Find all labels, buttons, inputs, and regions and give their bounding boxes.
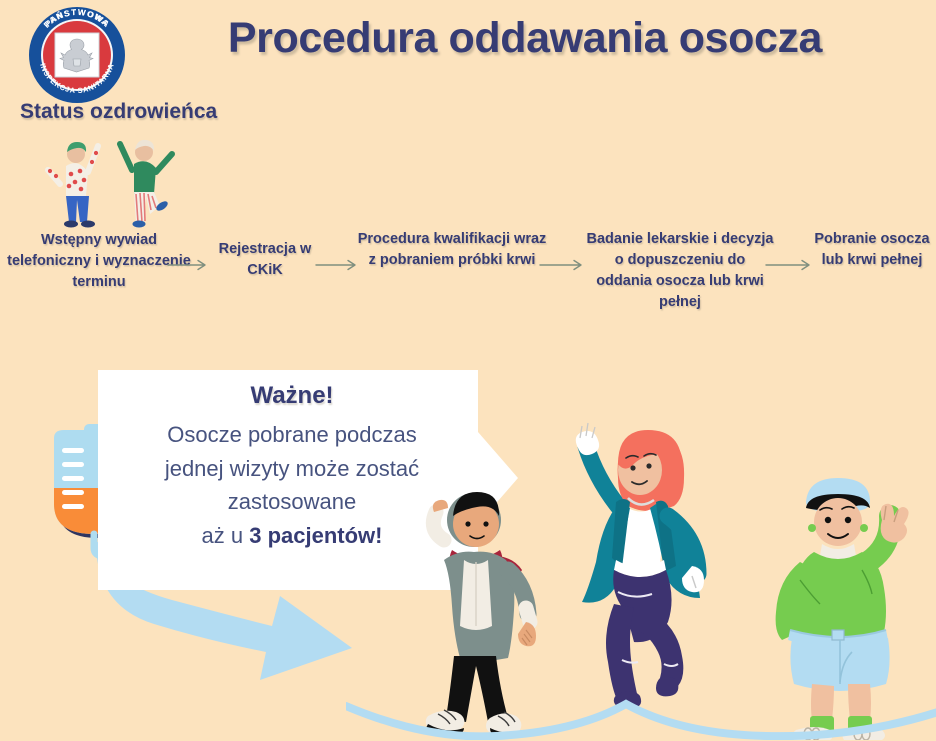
- flow-arrow-3-icon: [540, 258, 586, 278]
- callout-line-3: zastosowane: [228, 489, 356, 514]
- flow-step-3: Procedura kwalifikacji wraz z pobraniem …: [356, 229, 548, 271]
- panstwowa-inspekcja-sanitarna-logo: PAŃSTWOWA PAŃSTWOWA INSPEKCJA SANITARNA: [26, 6, 128, 104]
- process-flow: Wstępny wywiad telefoniczny i wyznaczeni…: [0, 226, 936, 331]
- status-section-heading: Status ozdrowieńca: [20, 100, 217, 124]
- celebrating-recovered-people: [36, 126, 196, 230]
- flow-step-5: Pobranie osocza lub krwi pełnej: [812, 229, 932, 271]
- flow-arrow-1-icon: [168, 258, 210, 278]
- flow-arrow-2-icon: [316, 258, 360, 278]
- flow-step-2: Rejestracja w CKiK: [206, 239, 324, 281]
- callout-line-1: Osocze pobrane podczas: [167, 422, 417, 447]
- page-title: Procedura oddawania osocza: [180, 16, 870, 61]
- flow-arrow-4-icon: [766, 258, 814, 278]
- callout-title: Ważne!: [120, 378, 464, 414]
- poster-canvas: PAŃSTWOWA PAŃSTWOWA INSPEKCJA SANITARNA …: [0, 0, 936, 741]
- callout-highlight: 3 pacjentów!: [249, 523, 382, 548]
- flow-step-4: Badanie lekarskie i decyzja o dopuszczen…: [586, 229, 774, 313]
- jumping-woman: [556, 408, 724, 708]
- flow-step-1: Wstępny wywiad telefoniczny i wyznaczeni…: [6, 230, 192, 293]
- callout-line-2: jednej wizyty może zostać: [165, 456, 419, 481]
- callout-line-4-prefix: aż u: [202, 523, 250, 548]
- ground-wave: [346, 688, 936, 740]
